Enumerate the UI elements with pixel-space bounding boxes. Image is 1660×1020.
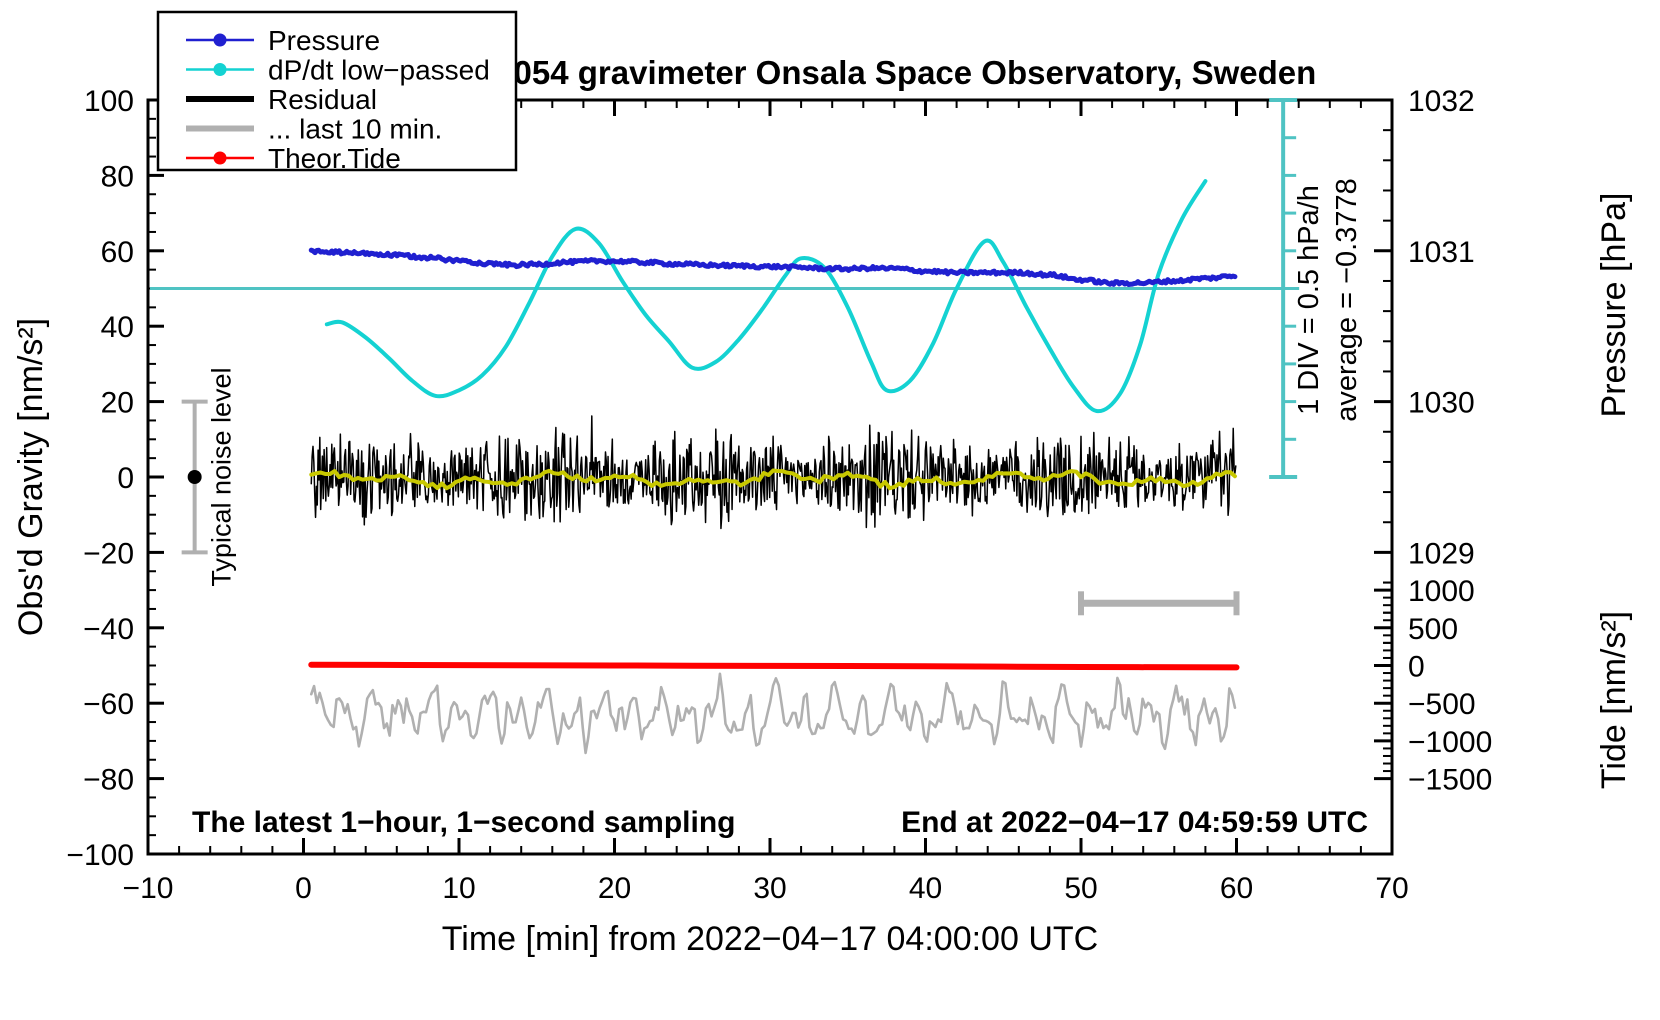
legend-marker-4 [214,152,227,165]
tide-tick-label: 500 [1408,613,1458,646]
series-pressure [311,250,1235,284]
tide-tick-label: 1000 [1408,575,1475,608]
pressure-tick-label: 1029 [1408,537,1475,570]
gravimeter-chart: −10010203040506070Time [min] from 2022−0… [0,0,1660,1020]
legend-label-3: ... last 10 min. [268,114,442,145]
x-tick-label: 10 [442,872,475,905]
series-last10min [311,674,1235,753]
average-annotation: average = −0.3778 [1331,178,1363,421]
legend-label-4: Theor.Tide [268,143,401,174]
y-tick-label: 80 [101,160,134,193]
tide-tick-label: 0 [1408,651,1425,684]
x-tick-label: 60 [1220,872,1253,905]
bottom-right-annotation: End at 2022−04−17 04:59:59 UTC [901,806,1368,839]
series-dpdt [327,181,1206,411]
pressure-tick-label: 1032 [1408,85,1475,118]
noise-bar-point [188,470,202,484]
y-tick-label: −40 [83,613,134,646]
y-axis-label-pressure: Pressure [hPa] [1595,193,1633,418]
y-tick-label: 0 [117,462,134,495]
tide-tick-label: −1000 [1408,726,1492,759]
legend-label-2: Residual [268,84,377,115]
y-tick-label: −100 [66,839,134,872]
tide-tick-label: −1500 [1408,764,1492,797]
legend-label-1: dP/dt low−passed [268,55,490,86]
x-tick-label: 70 [1375,872,1408,905]
x-tick-label: 40 [909,872,942,905]
y-tick-label: 20 [101,387,134,420]
x-tick-label: 30 [753,872,786,905]
tide-tick-label: −500 [1408,688,1476,721]
x-tick-label: 0 [295,872,312,905]
x-axis-label: Time [min] from 2022−04−17 04:00:00 UTC [442,920,1098,958]
legend-marker-1 [214,63,227,76]
y-tick-label: −60 [83,688,134,721]
x-tick-label: −10 [123,872,174,905]
pressure-tick-label: 1030 [1408,387,1475,420]
legend-marker-0 [214,34,227,47]
x-tick-label: 20 [598,872,631,905]
y-tick-label: −20 [83,537,134,570]
noise-level-label: Typical noise level [207,367,237,586]
series-theor-tide [311,665,1236,668]
pressure-tick-label: 1031 [1408,236,1475,269]
div-annotation: 1 DIV = 0.5 hPa/h [1293,185,1325,415]
gravimeter-plot-page: −10010203040506070Time [min] from 2022−0… [0,0,1660,1020]
legend-label-0: Pressure [268,25,380,56]
y-tick-label: 40 [101,311,134,344]
y-axis-label-left: Obs'd Gravity [nm/s²] [12,318,50,636]
y-tick-label: 100 [84,85,134,118]
x-tick-label: 50 [1064,872,1097,905]
chart-title: SCG_054 gravimeter Onsala Space Observat… [424,54,1317,91]
bottom-left-annotation: The latest 1−hour, 1−second sampling [192,806,736,839]
y-tick-label: −80 [83,764,134,797]
y-axis-label-tide: Tide [nm/s²] [1595,611,1633,789]
y-tick-label: 60 [101,236,134,269]
